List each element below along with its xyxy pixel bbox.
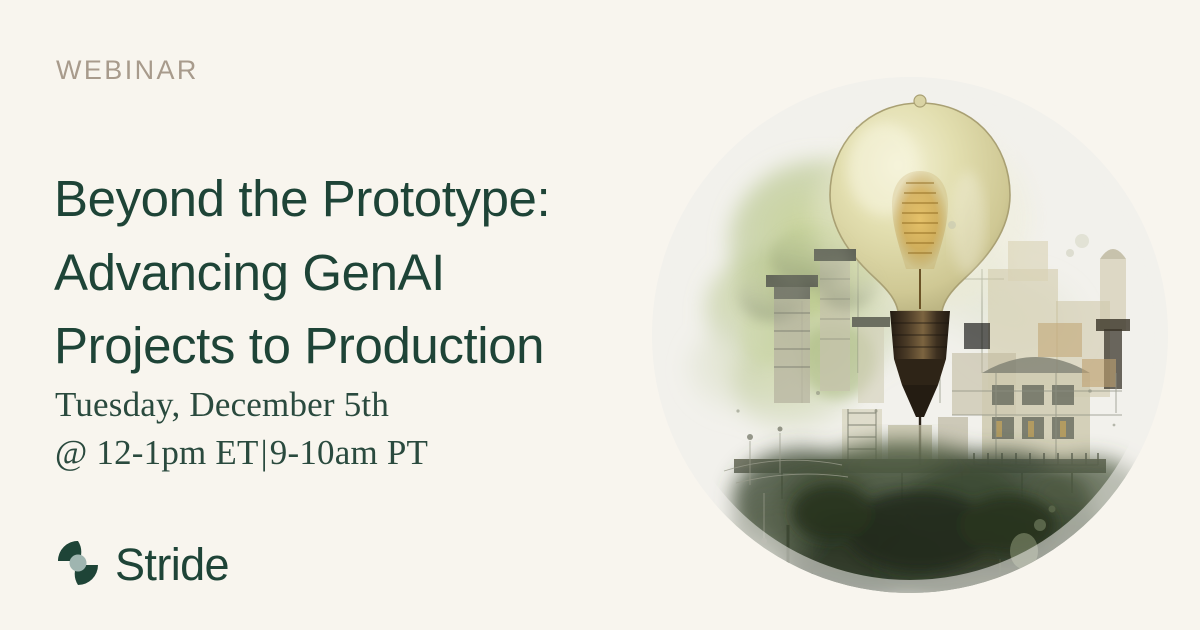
time-separator: | <box>259 429 270 477</box>
stride-logo: Stride <box>54 537 229 589</box>
text-column: WEBINAR Beyond the Prototype: Advancing … <box>54 0 674 630</box>
headline-line-2: Advancing GenAI <box>54 236 664 309</box>
stride-wordmark: Stride <box>115 542 229 587</box>
watercolor-lightbulb-city-svg <box>652 73 1168 597</box>
eyebrow-label: WEBINAR <box>56 57 199 84</box>
event-date: Tuesday, December 5th <box>55 381 428 429</box>
bulb-tip <box>914 95 926 107</box>
stride-s-mark-icon <box>54 537 102 589</box>
webinar-promo-card: WEBINAR Beyond the Prototype: Advancing … <box>0 0 1200 630</box>
event-time-et: @ 12-1pm ET <box>55 433 259 472</box>
base-collar <box>894 359 946 385</box>
headline-line-3: Projects to Production <box>54 309 664 382</box>
artwork-illustration <box>652 73 1168 597</box>
event-time: @ 12-1pm ET|9-10am PT <box>55 429 428 477</box>
headline-line-1: Beyond the Prototype: <box>54 162 664 235</box>
event-time-pt: 9-10am PT <box>270 433 428 472</box>
event-details: Tuesday, December 5th @ 12-1pm ET|9-10am… <box>55 381 428 477</box>
page-title: Beyond the Prototype: Advancing GenAI Pr… <box>54 162 664 382</box>
